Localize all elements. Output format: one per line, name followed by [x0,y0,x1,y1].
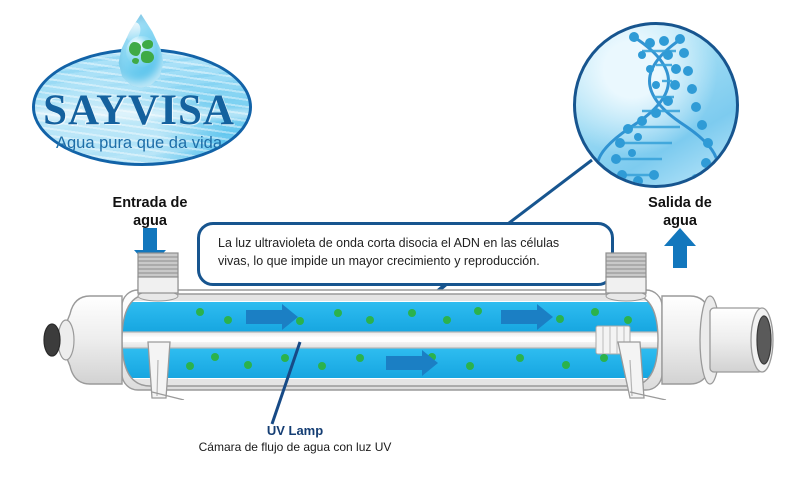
uv-lamp-leader-line [0,0,800,485]
diagram-canvas: SAYVISA Agua pura que da vida [0,0,800,485]
uv-lamp-label: UV Lamp Cámara de flujo de agua con luz … [150,423,440,454]
uv-lamp-title: UV Lamp [150,423,440,438]
uv-lamp-subtitle: Cámara de flujo de agua con luz UV [150,440,440,454]
